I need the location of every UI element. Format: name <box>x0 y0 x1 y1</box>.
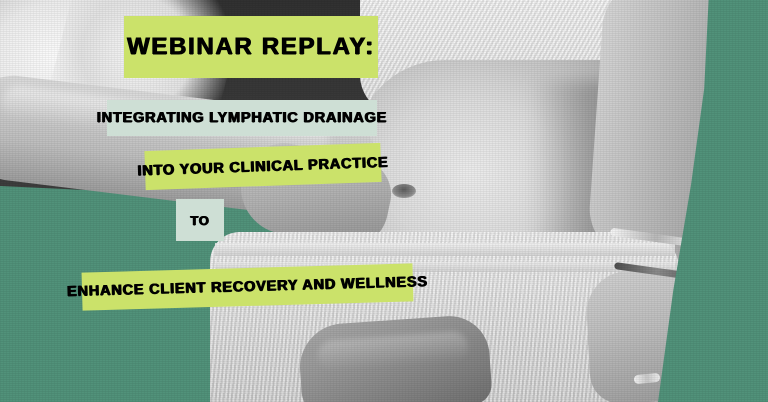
banner-line3-text: ENHANCE CLIENT RECOVERY AND WELLNESS <box>67 274 428 300</box>
banner-connector-text: TO <box>190 213 209 228</box>
banner-line2-text: INTO YOUR CLINICAL PRACTICE <box>137 154 389 179</box>
photo-collage <box>0 0 768 402</box>
banner-integrating-lymphatic-drainage: INTEGRATING LYMPHATIC DRAINAGE <box>107 100 377 136</box>
webinar-promo-poster: WEBINAR REPLAY: INTEGRATING LYMPHATIC DR… <box>0 0 768 402</box>
banner-line1-text: INTEGRATING LYMPHATIC DRAINAGE <box>97 110 387 126</box>
banner-webinar-replay-text: WEBINAR REPLAY: <box>127 33 375 61</box>
banner-webinar-replay: WEBINAR REPLAY: <box>124 16 378 78</box>
navel <box>392 184 416 198</box>
banner-into-your-clinical-practice: INTO YOUR CLINICAL PRACTICE <box>144 143 381 190</box>
banner-connector-to: TO <box>176 199 224 241</box>
waist-towel-band-upper <box>215 243 675 256</box>
